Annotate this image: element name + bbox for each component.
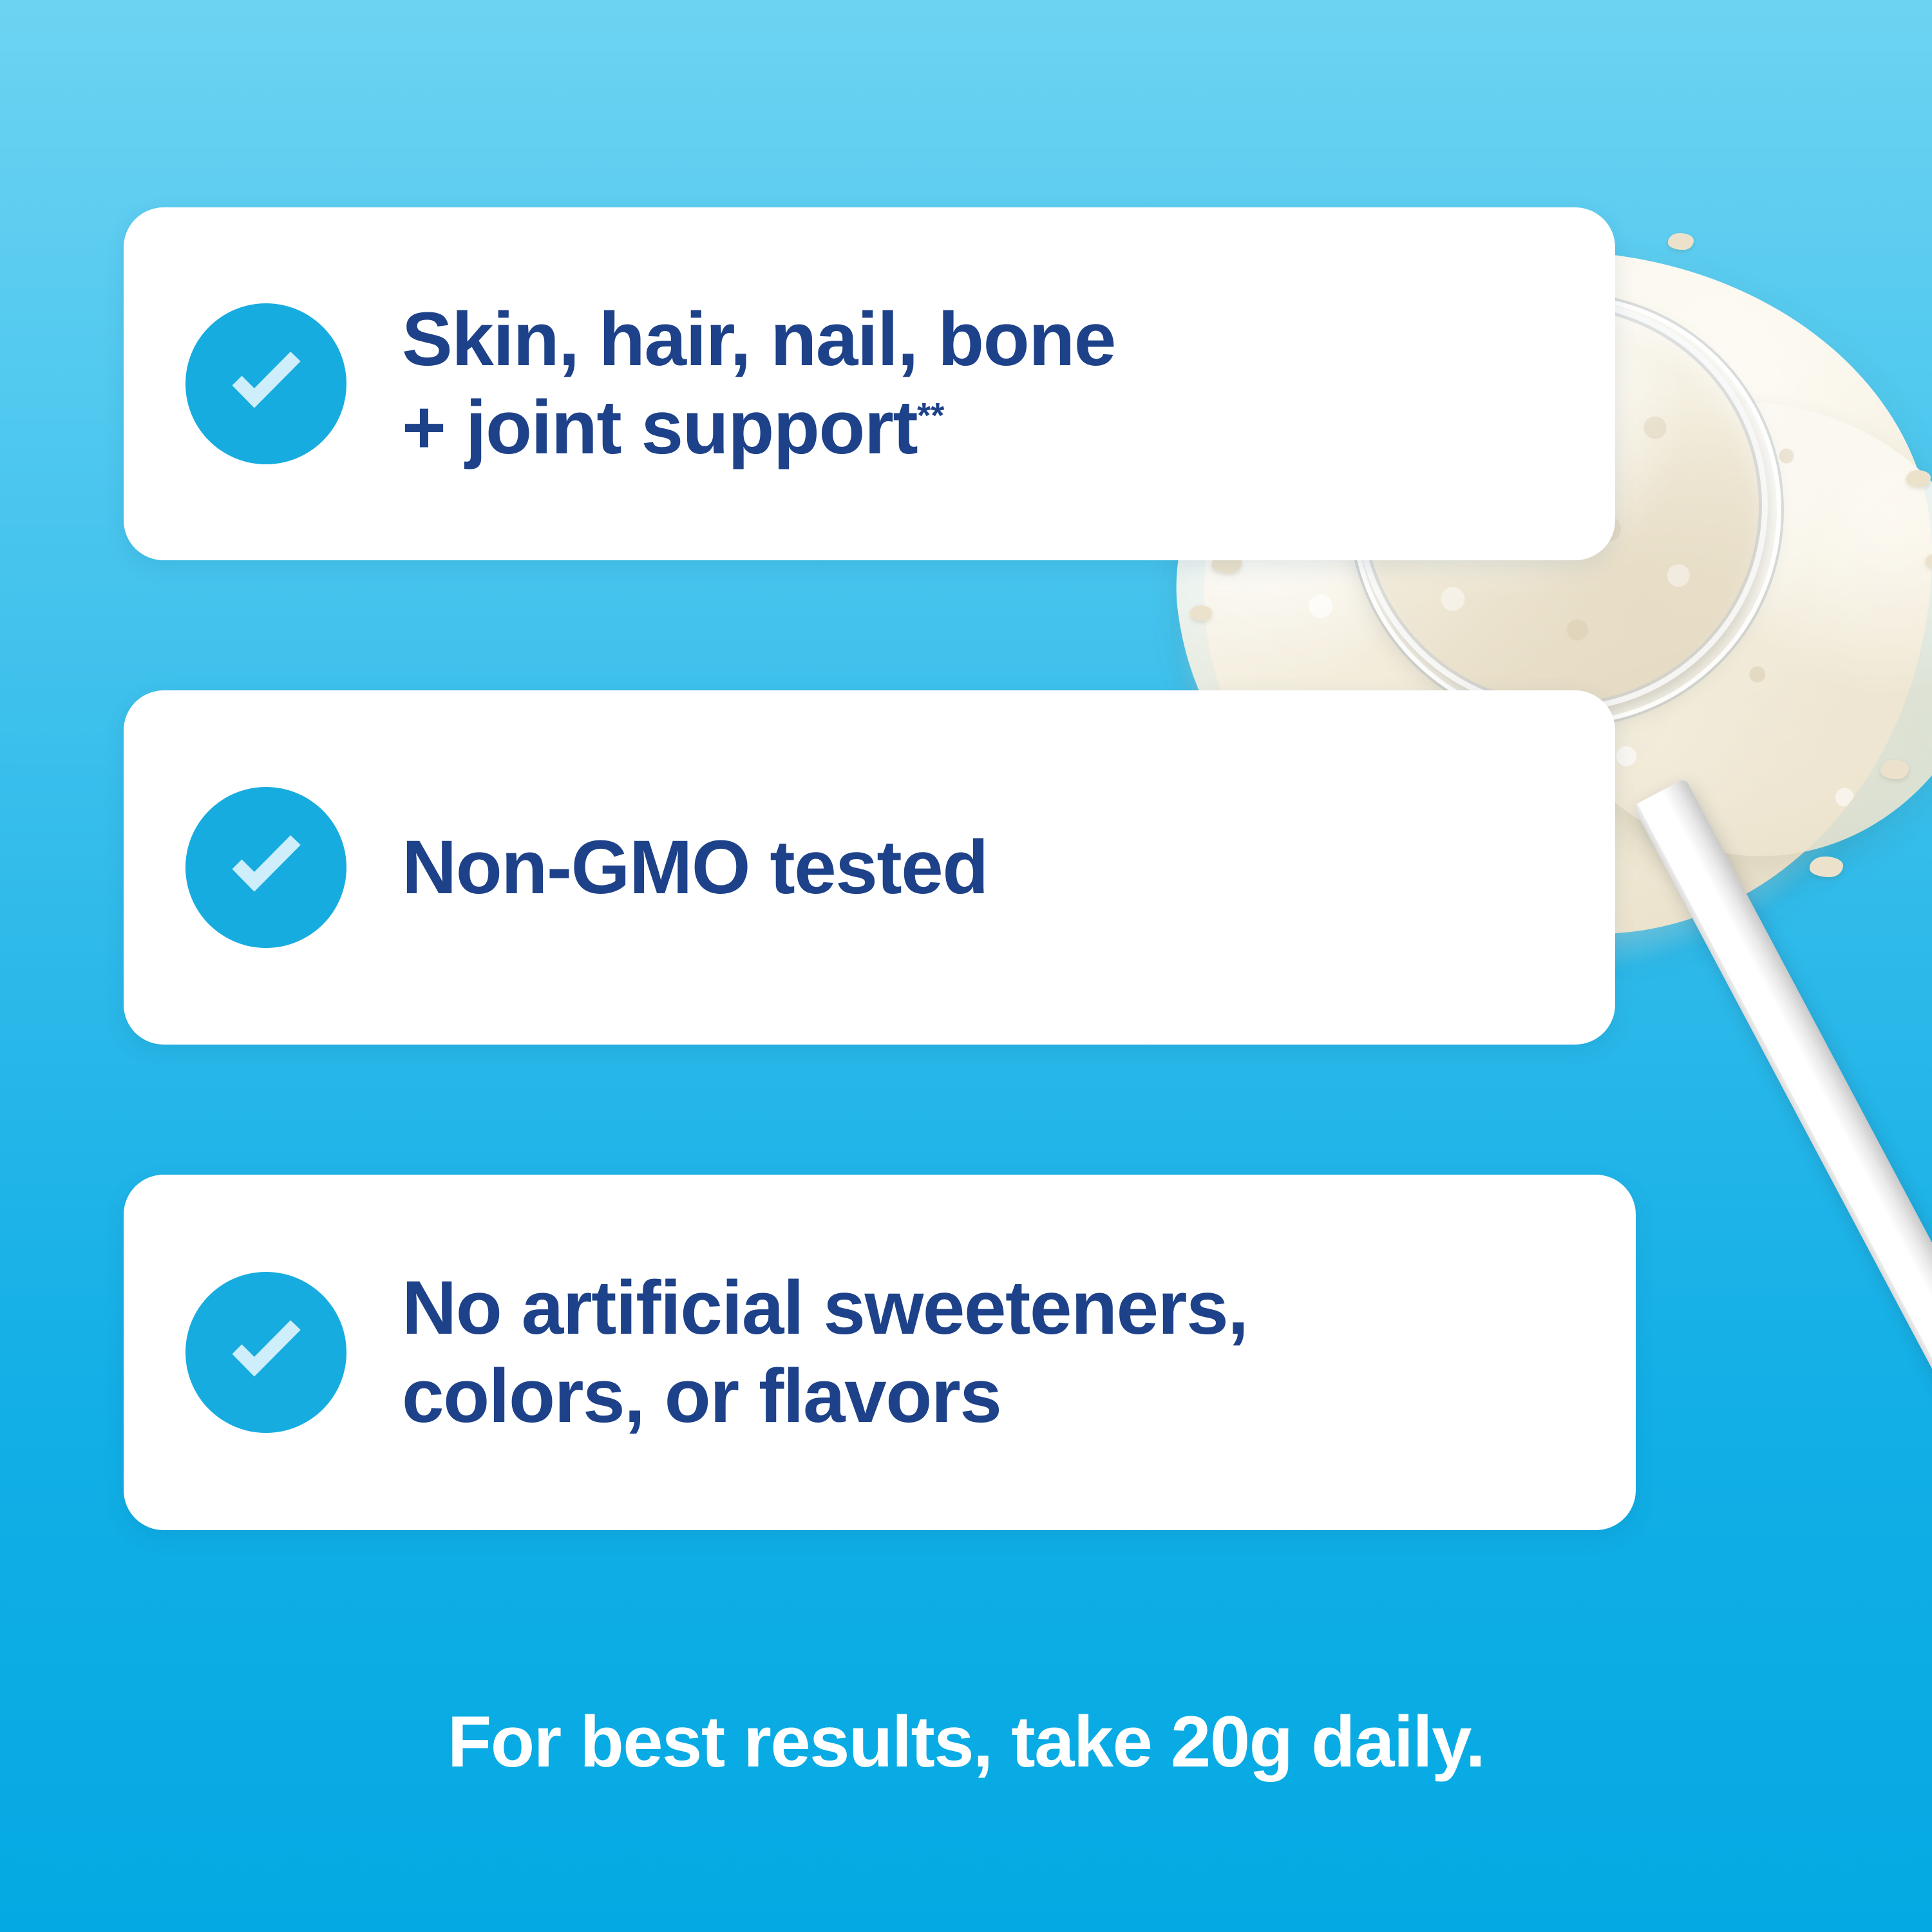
benefit-label: Skin, hair, nail, bone + joint support** xyxy=(402,296,1115,472)
benefit-card[interactable]: Non-GMO tested xyxy=(124,690,1615,1045)
powder-crumb xyxy=(1906,470,1931,487)
scoop-handle xyxy=(1633,778,1932,1505)
benefit-label: Non-GMO tested xyxy=(402,824,988,912)
powder-crumb xyxy=(1880,760,1909,779)
check-icon xyxy=(185,303,346,464)
benefit-text: Non-GMO tested xyxy=(402,825,988,910)
benefit-footnote: ** xyxy=(917,396,944,435)
powder-crumb xyxy=(1810,857,1843,877)
check-icon xyxy=(185,787,346,948)
benefit-label: No artificial sweeteners, colors, or fla… xyxy=(402,1264,1248,1441)
usage-instruction: For best results, take 20g daily. xyxy=(0,1700,1932,1783)
benefit-card[interactable]: No artificial sweeteners, colors, or fla… xyxy=(124,1175,1636,1530)
powder-crumb xyxy=(1190,605,1212,621)
promo-canvas: Skin, hair, nail, bone + joint support**… xyxy=(0,0,1932,1932)
check-icon xyxy=(185,1272,346,1433)
benefit-text: Skin, hair, nail, bone + joint support xyxy=(402,297,1115,470)
powder-crumb xyxy=(1668,233,1694,250)
benefit-card[interactable]: Skin, hair, nail, bone + joint support** xyxy=(124,207,1615,560)
benefit-text: No artificial sweeteners, colors, or fla… xyxy=(402,1265,1248,1439)
powder-crumb xyxy=(1926,554,1932,568)
